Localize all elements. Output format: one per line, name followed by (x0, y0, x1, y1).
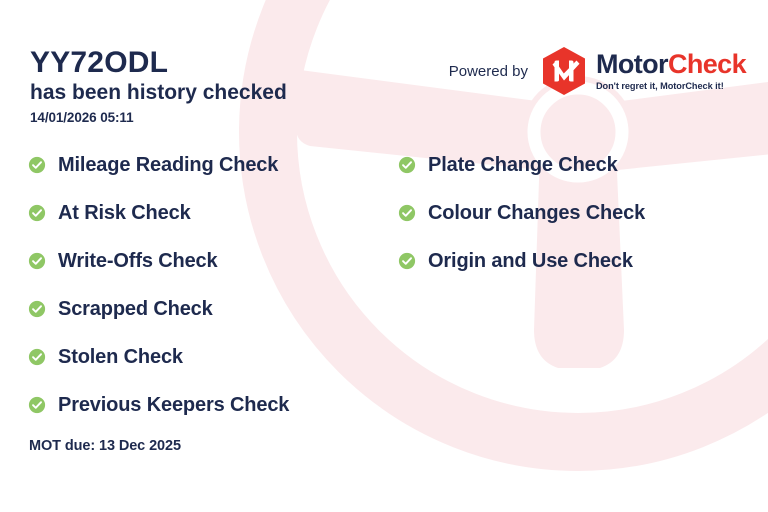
vehicle-history-check-card: YY72ODL has been history checked 14/01/2… (0, 0, 768, 512)
green-circle-check-icon (28, 396, 46, 414)
check-item: Mileage Reading Check (28, 152, 398, 178)
green-circle-check-icon (28, 204, 46, 222)
green-circle-check-icon (398, 204, 416, 222)
wordmark-check: Check (668, 49, 746, 79)
check-list-right-column: Plate Change Check Colour Changes Check … (398, 152, 738, 418)
vehicle-registration-plate: YY72ODL (30, 46, 287, 80)
check-item-label: Scrapped Check (58, 298, 213, 321)
check-list-left-column: Mileage Reading Check At Risk Check Writ… (28, 152, 398, 418)
green-circle-check-icon (398, 156, 416, 174)
check-item: Previous Keepers Check (28, 392, 398, 418)
check-timestamp: 14/01/2026 05:11 (30, 110, 287, 125)
mot-due-date: MOT due: 13 Dec 2025 (29, 438, 181, 454)
check-item: Stolen Check (28, 344, 398, 370)
check-item: Scrapped Check (28, 296, 398, 322)
check-item-label: Plate Change Check (428, 154, 618, 177)
check-item-label: Mileage Reading Check (58, 154, 278, 177)
green-circle-check-icon (28, 156, 46, 174)
check-item: Plate Change Check (398, 152, 738, 178)
history-check-list: Mileage Reading Check At Risk Check Writ… (28, 152, 740, 418)
motorcheck-hexagon-m-check-icon (541, 46, 587, 96)
green-circle-check-icon (398, 252, 416, 270)
check-item: Origin and Use Check (398, 248, 738, 274)
check-item-label: Origin and Use Check (428, 250, 633, 273)
powered-by-bar: Powered by MotorCheck Don't regret it, M… (449, 46, 746, 96)
check-item-label: At Risk Check (58, 202, 191, 225)
motorcheck-wordmark: MotorCheck (596, 51, 746, 78)
green-circle-check-icon (28, 252, 46, 270)
powered-by-label: Powered by (449, 63, 528, 80)
page-title: has been history checked (30, 81, 287, 106)
check-item: At Risk Check (28, 200, 398, 226)
card-header: YY72ODL has been history checked 14/01/2… (30, 46, 287, 125)
check-item-label: Stolen Check (58, 346, 183, 369)
check-item: Write-Offs Check (28, 248, 398, 274)
brand-tagline: Don't regret it, MotorCheck it! (596, 81, 746, 91)
green-circle-check-icon (28, 348, 46, 366)
green-circle-check-icon (28, 300, 46, 318)
check-item-label: Colour Changes Check (428, 202, 645, 225)
check-item: Colour Changes Check (398, 200, 738, 226)
check-item-label: Write-Offs Check (58, 250, 218, 273)
wordmark-motor: Motor (596, 49, 668, 79)
check-item-label: Previous Keepers Check (58, 394, 289, 417)
motorcheck-logo[interactable]: MotorCheck Don't regret it, MotorCheck i… (541, 46, 746, 96)
